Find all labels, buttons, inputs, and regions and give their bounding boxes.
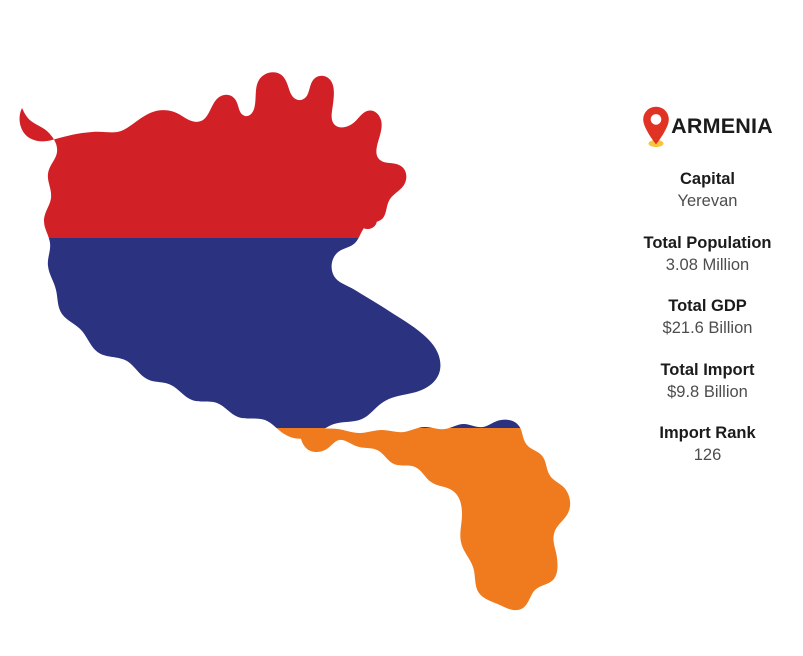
flag-band-red [0, 0, 600, 238]
stat-label: Total Population [612, 232, 803, 254]
flag-band-orange [0, 428, 600, 656]
country-stats-list: Capital Yerevan Total Population 3.08 Mi… [612, 168, 803, 486]
stat-value: $9.8 Billion [612, 381, 803, 403]
stat-value: 3.08 Million [612, 254, 803, 276]
armenia-map-svg [0, 0, 600, 656]
stat-label: Capital [612, 168, 803, 190]
stat-value: 126 [612, 444, 803, 466]
stat-import-rank: Import Rank 126 [612, 422, 803, 467]
flag-band-blue [0, 238, 600, 428]
stat-value: $21.6 Billion [612, 317, 803, 339]
stat-total-import: Total Import $9.8 Billion [612, 359, 803, 404]
stat-label: Total Import [612, 359, 803, 381]
stat-value: Yerevan [612, 190, 803, 212]
country-info-panel: ARMENIA Capital Yerevan Total Population… [612, 0, 803, 656]
stat-capital: Capital Yerevan [612, 168, 803, 213]
stat-total-population: Total Population 3.08 Million [612, 232, 803, 277]
stat-total-gdp: Total GDP $21.6 Billion [612, 295, 803, 340]
stat-label: Total GDP [612, 295, 803, 317]
flag-bands [0, 0, 600, 656]
armenia-map [0, 0, 600, 656]
country-heading: ARMENIA [612, 104, 803, 150]
country-name: ARMENIA [671, 116, 773, 138]
stat-label: Import Rank [612, 422, 803, 444]
country-profile-screen: ARMENIA Capital Yerevan Total Population… [0, 0, 803, 656]
location-pin-icon [642, 106, 670, 148]
